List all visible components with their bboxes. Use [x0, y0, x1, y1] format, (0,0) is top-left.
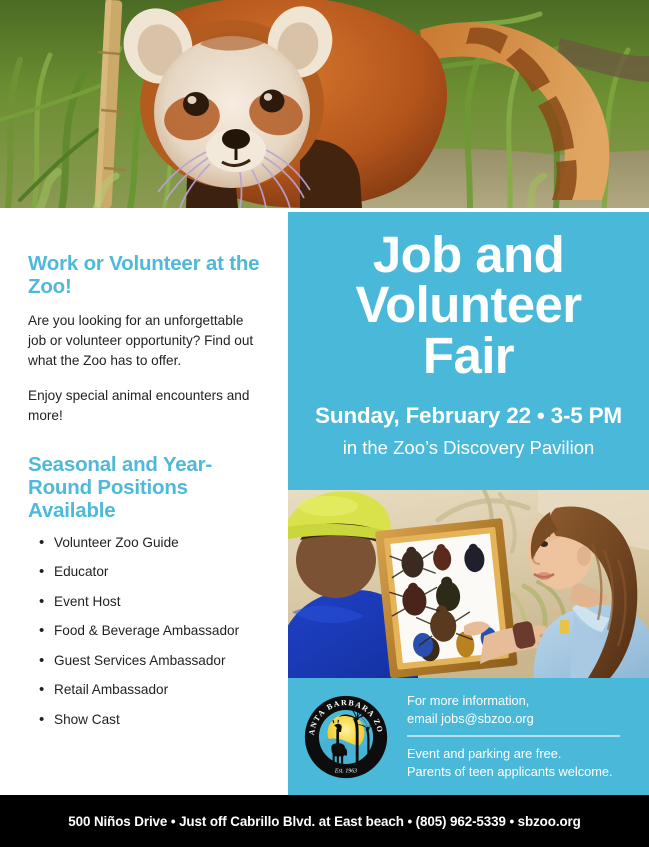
positions-heading: Seasonal and Year-Round Positions Availa…	[28, 453, 262, 522]
footer-address-text: 500 Niños Drive • Just off Cabrillo Blvd…	[68, 814, 580, 829]
event-title-line1: Job and	[302, 230, 635, 280]
encounters-paragraph: Enjoy special animal encounters and more…	[28, 386, 262, 426]
contact-line-3: Event and parking are free.	[407, 745, 620, 763]
positions-list: Volunteer Zoo Guide Educator Event Host …	[28, 535, 262, 729]
event-title-line2: Volunteer	[302, 280, 635, 330]
list-item: Educator	[28, 564, 262, 581]
event-date-time: Sunday, February 22 • 3-5 PM	[302, 403, 635, 429]
footer-address-bar: 500 Niños Drive • Just off Cabrillo Blvd…	[0, 795, 649, 847]
contact-line-1: For more information,	[407, 692, 620, 710]
list-item: Guest Services Ambassador	[28, 653, 262, 670]
work-volunteer-heading: Work or Volunteer at the Zoo!	[28, 252, 262, 298]
list-item: Event Host	[28, 594, 262, 611]
contact-line-4: Parents of teen applicants welcome.	[407, 763, 620, 781]
event-title-line3: Fair	[302, 331, 635, 381]
event-header-panel: Job and Volunteer Fair Sunday, February …	[288, 212, 649, 490]
santa-barbara-zoo-logo: SANTA BARBARA ZOO Est. 1963	[304, 695, 388, 779]
contact-email-line[interactable]: email jobs@sbzoo.org	[407, 710, 620, 728]
contact-text-block: For more information, email jobs@sbzoo.o…	[407, 692, 620, 782]
logo-established-text: Est. 1963	[334, 768, 357, 774]
photo-educator-with-child	[288, 490, 649, 678]
flyer-page: Work or Volunteer at the Zoo! Are you lo…	[0, 0, 649, 847]
contact-divider	[407, 735, 620, 737]
hero-photo-red-panda	[0, 0, 649, 208]
list-item: Retail Ambassador	[28, 682, 262, 699]
contact-info-panel: SANTA BARBARA ZOO Est. 1963 For more inf…	[288, 678, 649, 795]
list-item: Volunteer Zoo Guide	[28, 535, 262, 552]
event-location: in the Zoo’s Discovery Pavilion	[302, 437, 635, 459]
left-content-column: Work or Volunteer at the Zoo! Are you lo…	[0, 208, 288, 795]
intro-paragraph: Are you looking for an unforgettable job…	[28, 311, 262, 371]
list-item: Food & Beverage Ambassador	[28, 623, 262, 640]
list-item: Show Cast	[28, 712, 262, 729]
